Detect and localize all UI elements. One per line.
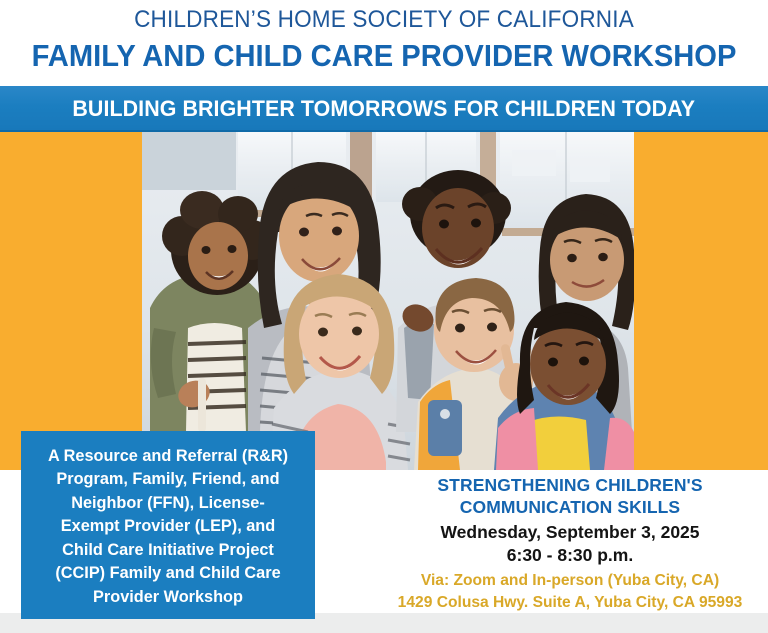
workshop-title: FAMILY AND CHILD CARE PROVIDER WORKSHOP	[23, 38, 745, 74]
event-delivery-mode: Via: Zoom and In-person (Yuba City, CA)	[372, 570, 768, 592]
header-zone: CHILDREN’S HOME SOCIETY OF CALIFORNIA FA…	[0, 0, 768, 86]
event-date: Wednesday, September 3, 2025	[372, 521, 768, 544]
event-details: STRENGTHENING CHILDREN'S COMMUNICATION S…	[372, 474, 768, 614]
event-time: 6:30 - 8:30 p.m.	[372, 544, 768, 567]
program-description-box: A Resource and Referral (R&R) Program, F…	[21, 431, 315, 619]
tagline-banner: BUILDING BRIGHTER TOMORROWS FOR CHILDREN…	[0, 86, 768, 131]
organization-name: CHILDREN’S HOME SOCIETY OF CALIFORNIA	[31, 6, 738, 34]
event-topic: STRENGTHENING CHILDREN'S COMMUNICATION S…	[372, 474, 768, 518]
flyer-poster: CHILDREN’S HOME SOCIETY OF CALIFORNIA FA…	[0, 0, 768, 633]
program-description-text: A Resource and Referral (R&R) Program, F…	[48, 445, 288, 610]
event-address: 1429 Colusa Hwy. Suite A, Yuba City, CA …	[372, 592, 768, 614]
children-group-photo	[142, 132, 634, 470]
photo-illustration	[142, 132, 634, 470]
tagline-text: BUILDING BRIGHTER TOMORROWS FOR CHILDREN…	[73, 96, 696, 122]
